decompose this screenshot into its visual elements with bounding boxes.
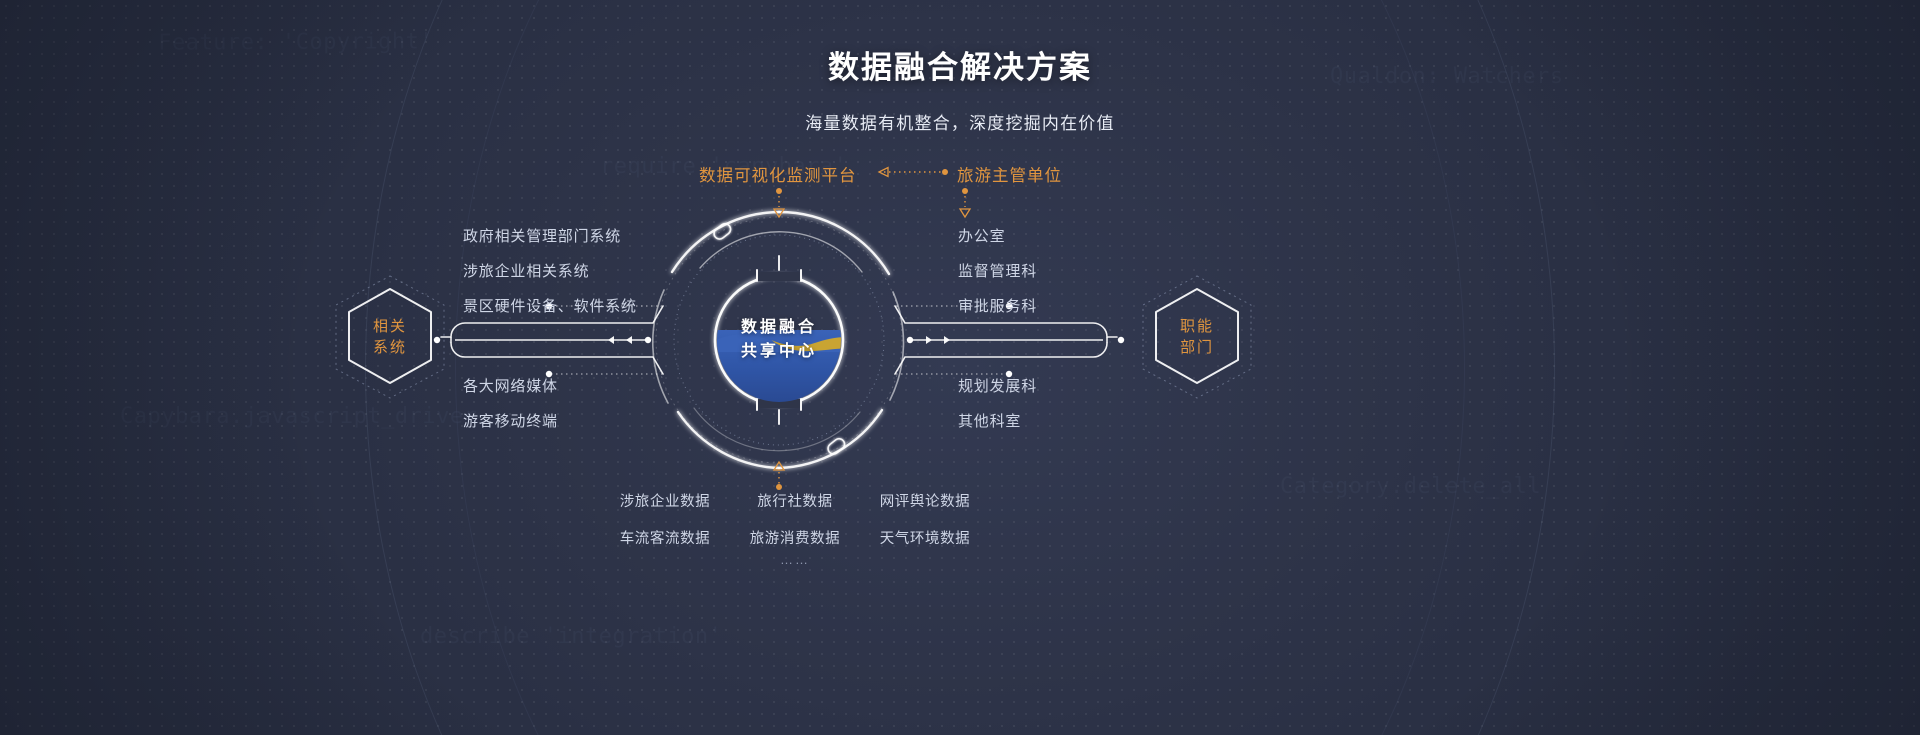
badge-line2: 部门	[1180, 337, 1214, 358]
list-item: 监督管理科	[958, 260, 1037, 281]
page-header: 数据融合解决方案 海量数据有机整合，深度挖掘内在价值	[0, 0, 1920, 134]
left-sources-top: 政府相关管理部门系统 涉旅企业相关系统 景区硬件设备、软件系统	[463, 225, 637, 330]
core-label: 数据融合 共享中心	[717, 278, 841, 402]
list-item: 游客移动终端	[463, 410, 558, 431]
data-item: 车流客流数据	[600, 527, 730, 548]
badge-line2: 系统	[373, 337, 407, 358]
right-departments-bottom: 规划发展科 其他科室	[958, 375, 1037, 445]
core-line2: 共享中心	[741, 340, 817, 364]
list-item: 各大网络媒体	[463, 375, 558, 396]
core-line1: 数据融合	[741, 316, 817, 340]
right-departments-top: 办公室 监督管理科 审批服务科	[958, 225, 1037, 330]
list-item: 规划发展科	[958, 375, 1037, 396]
badge-label: 相关 系统	[330, 272, 450, 402]
bottom-ellipsis: ……	[600, 552, 990, 567]
page-title: 数据融合解决方案	[0, 42, 1920, 87]
data-item: 天气环境数据	[860, 527, 990, 548]
list-item: 涉旅企业相关系统	[463, 260, 637, 281]
bottom-data-grid: 涉旅企业数据 旅行社数据 网评舆论数据 车流客流数据 旅游消费数据 天气环境数据	[600, 490, 990, 548]
data-item: 涉旅企业数据	[600, 490, 730, 511]
node-tourism-authority[interactable]: 旅游主管单位	[957, 162, 1062, 186]
data-item: 旅游消费数据	[730, 527, 860, 548]
badge-functional-departments[interactable]: 职能 部门	[1137, 272, 1257, 402]
core-sphere[interactable]: 数据融合 共享中心	[717, 278, 841, 402]
data-item: 旅行社数据	[730, 490, 860, 511]
list-item: 景区硬件设备、软件系统	[463, 295, 637, 316]
badge-label: 职能 部门	[1137, 272, 1257, 402]
node-visualization-platform[interactable]: 数据可视化监测平台	[699, 162, 857, 186]
list-item: 办公室	[958, 225, 1037, 246]
badge-line1: 职能	[1180, 316, 1214, 337]
list-item: 审批服务科	[958, 295, 1037, 316]
data-item: 网评舆论数据	[860, 490, 990, 511]
list-item: 政府相关管理部门系统	[463, 225, 637, 246]
list-item: 其他科室	[958, 410, 1037, 431]
badge-related-systems[interactable]: 相关 系统	[330, 272, 450, 402]
left-sources-bottom: 各大网络媒体 游客移动终端	[463, 375, 558, 445]
page-subtitle: 海量数据有机整合，深度挖掘内在价值	[0, 109, 1920, 134]
badge-line1: 相关	[373, 316, 407, 337]
